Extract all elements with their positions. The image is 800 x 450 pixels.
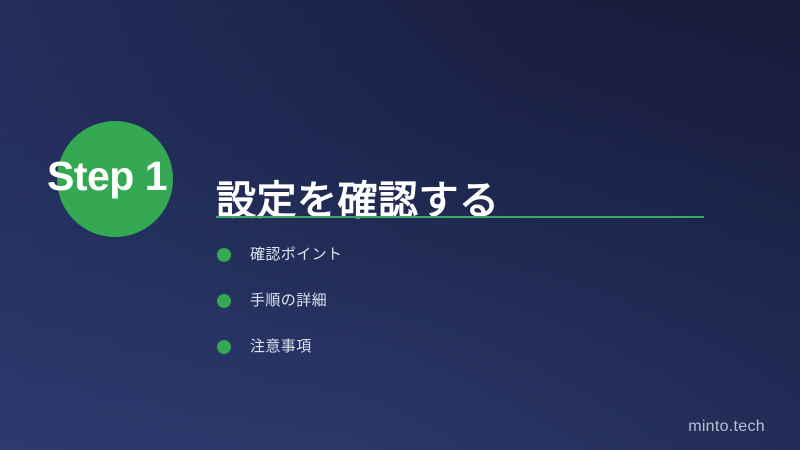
list-item: 手順の詳細: [216, 278, 716, 324]
slide-canvas: Step 1 設定を確認する 確認ポイント 手順の詳細 注意事項 minto.t…: [0, 0, 800, 450]
title-divider: [216, 216, 704, 218]
bullet-dot-icon: [217, 248, 231, 262]
list-item-label: 手順の詳細: [250, 291, 327, 311]
list-item-label: 確認ポイント: [250, 245, 342, 265]
list-item: 確認ポイント: [216, 232, 716, 278]
list-item-label: 注意事項: [250, 337, 312, 357]
bullet-dot-icon: [217, 294, 231, 308]
bullet-list: 確認ポイント 手順の詳細 注意事項: [216, 232, 716, 370]
bullet-dot-icon: [217, 340, 231, 354]
footer-watermark: minto.tech: [688, 416, 765, 438]
list-item: 注意事項: [216, 324, 716, 370]
step-badge-label: Step 1: [47, 152, 197, 200]
page-title: 設定を確認する: [216, 175, 500, 227]
